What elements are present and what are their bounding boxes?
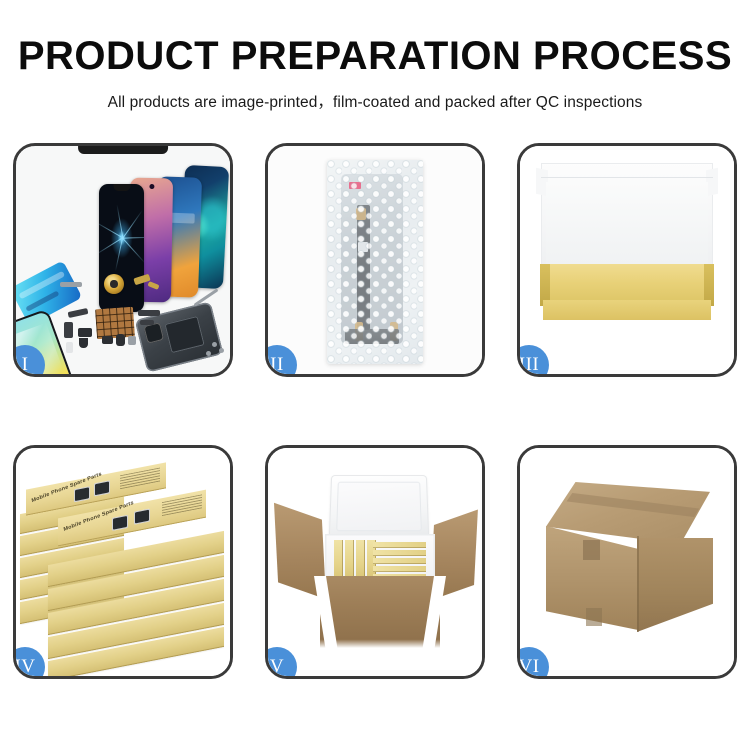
kraft-box-base-icon bbox=[540, 264, 714, 306]
small-part bbox=[116, 334, 125, 346]
white-foam-liner-icon bbox=[546, 182, 708, 266]
carton-tab-icon bbox=[586, 608, 602, 626]
gold-coil-icon bbox=[104, 274, 124, 294]
process-step-5: V bbox=[265, 445, 485, 679]
shipping-carton-body-icon bbox=[320, 576, 440, 648]
small-part bbox=[66, 342, 73, 353]
small-part bbox=[64, 322, 73, 338]
step-5-image: V bbox=[268, 448, 482, 676]
header: PRODUCT PREPARATION PROCESS All products… bbox=[0, 0, 750, 112]
process-step-1: I bbox=[13, 143, 233, 377]
step-4-image: Mobile Phone Spare Parts Mobile Phone Sp… bbox=[16, 448, 230, 676]
dark-crystal-phone-icon bbox=[99, 184, 144, 312]
process-step-4: Mobile Phone Spare Parts Mobile Phone Sp… bbox=[13, 445, 233, 679]
small-part bbox=[219, 348, 224, 353]
process-step-grid: I II bbox=[13, 143, 737, 679]
carton-corner-seam bbox=[637, 536, 639, 632]
small-part bbox=[206, 351, 211, 356]
small-part bbox=[212, 342, 217, 347]
bubble-wrap-bag-icon bbox=[327, 160, 423, 364]
product-preparation-infographic: PRODUCT PREPARATION PROCESS All products… bbox=[0, 0, 750, 750]
foam-lid-icon bbox=[329, 475, 429, 538]
step-2-image: II bbox=[268, 146, 482, 374]
process-step-6: VI bbox=[517, 445, 737, 679]
small-part bbox=[138, 310, 160, 316]
step-1-image: I bbox=[16, 146, 230, 374]
small-part bbox=[78, 328, 92, 337]
carton-tab-icon bbox=[583, 540, 600, 560]
small-part bbox=[140, 320, 154, 325]
step-3-image: III bbox=[520, 146, 734, 374]
bubble-texture bbox=[327, 160, 423, 364]
page-subtitle: All products are image-printed，film-coat… bbox=[0, 90, 750, 112]
process-step-2: II bbox=[265, 143, 485, 377]
process-step-3: III bbox=[517, 143, 737, 377]
small-part bbox=[102, 336, 113, 344]
chip-grid-icon bbox=[95, 307, 135, 340]
step-6-image: VI bbox=[520, 448, 734, 676]
small-part bbox=[60, 282, 82, 287]
small-part bbox=[128, 336, 136, 345]
page-title: PRODUCT PREPARATION PROCESS bbox=[0, 34, 750, 79]
small-part bbox=[79, 338, 88, 348]
